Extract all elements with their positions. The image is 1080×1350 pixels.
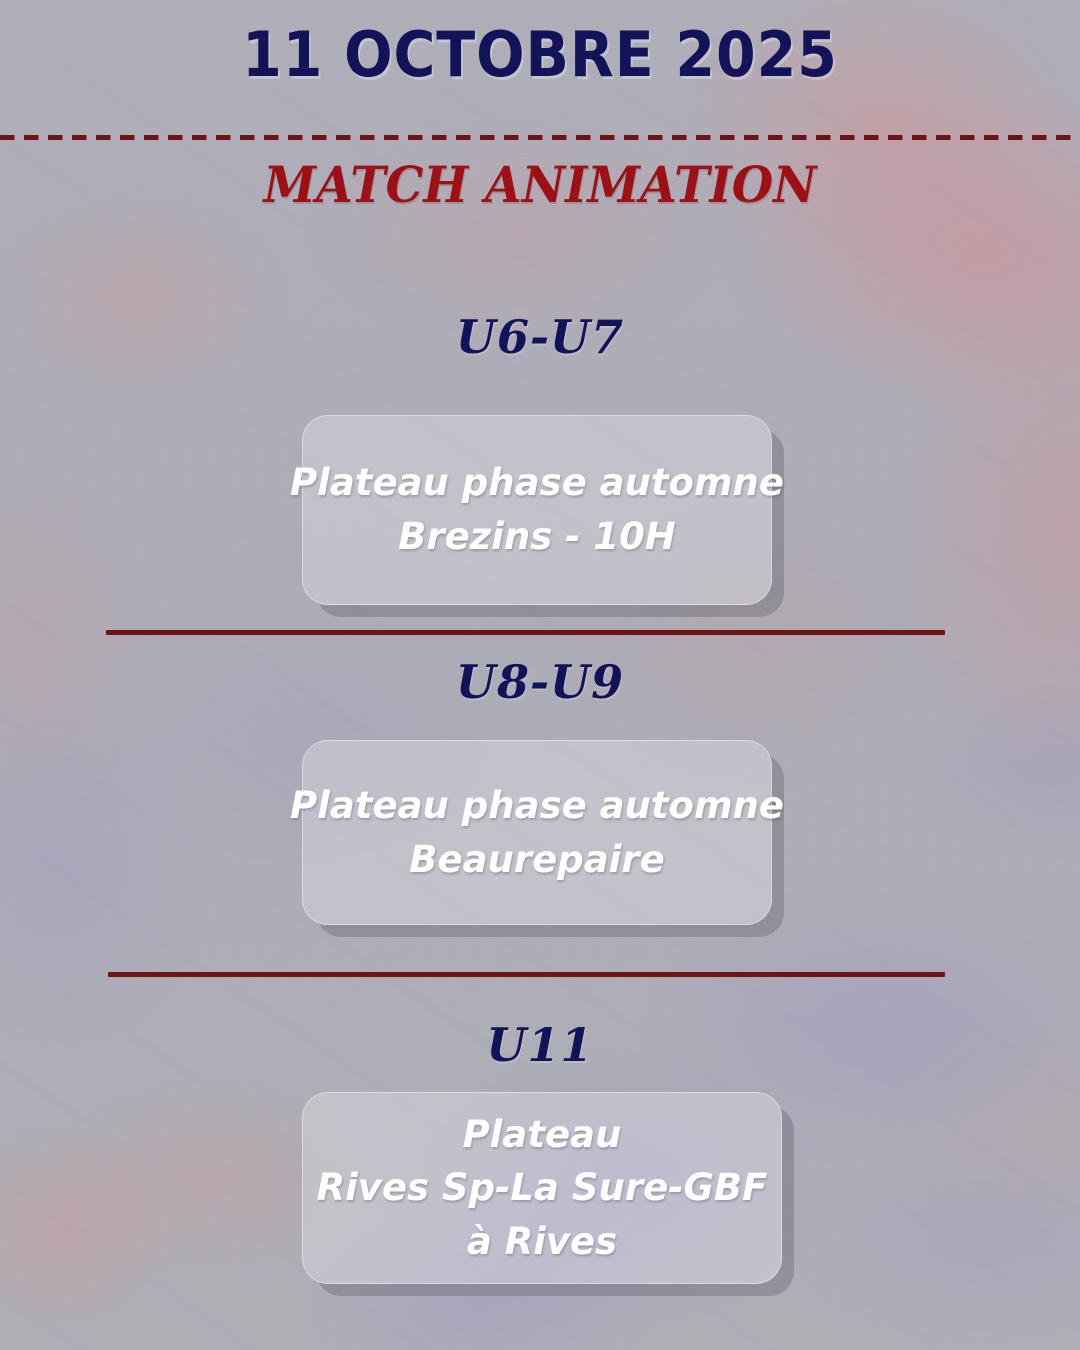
match-card-line: Plateau phase automne: [290, 779, 784, 833]
section-divider-1: [106, 630, 945, 635]
match-announcement-poster: 11 OCTOBRE 2025 MATCH ANIMATION U6-U7 Pl…: [0, 0, 1080, 1350]
match-card-line: Brezins - 10H: [398, 510, 676, 564]
match-card-line: Rives Sp-La Sure-GBF: [317, 1161, 768, 1215]
category-heading-u8-u9: U8-U9: [0, 655, 1080, 709]
date-title: 11 OCTOBRE 2025: [43, 18, 1037, 91]
category-heading-u11: U11: [0, 1018, 1080, 1072]
section-divider-2: [108, 972, 945, 977]
dashed-divider: [0, 135, 1080, 140]
match-card-line: à Rives: [467, 1215, 617, 1269]
match-card-line: Beaurepaire: [409, 833, 664, 887]
match-card-u11: Plateau Rives Sp-La Sure-GBF à Rives: [302, 1092, 782, 1284]
match-animation-title: MATCH ANIMATION: [27, 155, 1053, 214]
match-card-u8-u9: Plateau phase automne Beaurepaire: [302, 740, 772, 925]
category-heading-u6-u7: U6-U7: [0, 310, 1080, 364]
match-card-u6-u7: Plateau phase automne Brezins - 10H: [302, 415, 772, 605]
match-card-line: Plateau phase automne: [290, 456, 784, 510]
poster-content: 11 OCTOBRE 2025 MATCH ANIMATION U6-U7 Pl…: [0, 0, 1080, 1350]
match-card-line: Plateau: [463, 1108, 622, 1162]
